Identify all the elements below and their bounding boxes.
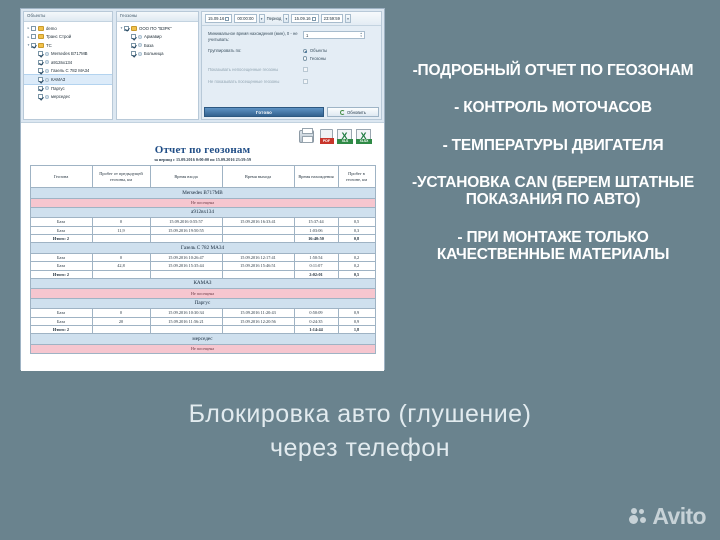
screenshot-root: Объекты ▸demo▸Транс Строй▾ТСMersedes B71… [0, 0, 720, 540]
table-cell: 0,2 [338, 253, 375, 261]
geozone-item-3[interactable]: Больница [117, 50, 198, 59]
table-cell: 0,2 [338, 262, 375, 270]
table-cell: 15:37:44 [294, 218, 338, 226]
report-header-row: ГеозонаПробег от предыдущей геозоны, кмВ… [30, 166, 375, 188]
checkbox-icon[interactable] [38, 86, 43, 91]
checkbox-icon[interactable] [38, 77, 43, 82]
report-table-head: ГеозонаПробег от предыдущей геозоны, кмВ… [30, 166, 375, 188]
checkbox-icon[interactable] [131, 51, 136, 56]
period-label: Период [267, 16, 282, 21]
checkbox-icon[interactable] [124, 26, 129, 31]
calendar-icon[interactable] [225, 17, 229, 21]
print-icon [299, 130, 314, 143]
radio-geozones-label: Геозоны [310, 56, 326, 61]
table-cell-total [222, 234, 294, 242]
folder-icon [38, 26, 44, 31]
table-cell: 1:50:54 [294, 253, 338, 261]
show-unvisited-row: Показывать непосещенные геозоны [208, 67, 375, 73]
report-group-row-cell: Mersedes B717MB [30, 188, 375, 199]
table-cell: 0:50:09 [294, 309, 338, 317]
checkbox-icon[interactable] [131, 43, 136, 48]
report-group-row: КАМАЗ [30, 278, 375, 289]
checkbox-icon[interactable] [38, 60, 43, 65]
table-cell: База [30, 262, 92, 270]
geozone-icon [138, 52, 142, 56]
object-item-label: Паргус [51, 86, 65, 91]
refresh-button-label: Обновить [347, 110, 366, 115]
time-to-field[interactable]: 23:59:59 [321, 14, 343, 23]
geozone-report-table: ГеозонаПробег от предыдущей геозоны, кмВ… [30, 165, 376, 354]
params-body: Минимальное время нахождения (мин), 0 - … [202, 26, 381, 119]
table-row: База015.09.2016 10:26:4715.09.2016 12:17… [30, 253, 375, 261]
object-item-3[interactable]: Mersedes B717MB [24, 50, 112, 59]
report-params-panel: 15.09.16 00:00:00 ▾ Период ▾ 15.09.16 23… [201, 11, 382, 120]
table-row: База11,915.09.2016 19:50:551:03:060,3 [30, 226, 375, 234]
table-cell-total: Итого: 2 [30, 325, 92, 333]
report-not-visited-row: Не посещена [30, 344, 375, 353]
report-group-row: Газель С 782 МА34 [30, 243, 375, 254]
report-column-header: Пробег от предыдущей геозоны, км [92, 166, 150, 188]
geozone-item-1[interactable]: Армавир [117, 32, 198, 41]
checkbox-icon[interactable] [38, 68, 43, 73]
show-unvisited-checkbox[interactable] [303, 67, 308, 72]
object-item-label: Транс Строй [46, 34, 71, 39]
xls-label: XLS [337, 139, 353, 144]
period-toolbar: 15.09.16 00:00:00 ▾ Период ▾ 15.09.16 23… [202, 12, 381, 26]
avito-logo-icon [629, 508, 648, 525]
marketing-bottom-text: Блокировка авто (глушение) через телефон [0, 398, 720, 466]
geozone-icon [138, 43, 142, 47]
geozone-item-label: Армавир [144, 34, 162, 39]
report-total-row: Итого: 22:02:010,5 [30, 270, 375, 278]
report-not-visited-row: Не посещена [30, 289, 375, 298]
table-cell: 15.09.2016 11:56:21 [150, 317, 222, 325]
refresh-icon [340, 110, 345, 115]
checkbox-icon[interactable] [131, 34, 136, 39]
object-item-5[interactable]: Газель С 782 МА34 [24, 67, 112, 76]
xlsx-label: XLSX [356, 139, 372, 144]
bottom-line-2: через телефон [0, 432, 720, 466]
date-from-value: 15.09.16 [208, 16, 224, 21]
group-by-row: Группировать по: Объекты Геозоны [208, 48, 375, 61]
report-group-row-cell: Газель С 782 МА34 [30, 243, 375, 254]
objects-tree[interactable]: ▸demo▸Транс Строй▾ТСMersedes B717MBа912в… [24, 22, 112, 119]
table-cell-total [150, 270, 222, 278]
table-cell-total: 1:14:44 [294, 325, 338, 333]
report-area: XXLS XXLSX Отчет по геозонам за период с… [21, 122, 384, 371]
object-item-8[interactable]: мерседес [24, 92, 112, 101]
table-cell-total: Итого: 2 [30, 234, 92, 242]
report-group-row-cell: а912вх134 [30, 207, 375, 218]
time-from-field[interactable]: 00:00:00 [234, 14, 256, 23]
table-cell: 0 [92, 253, 150, 261]
table-cell: 15.09.2016 15:46:51 [222, 262, 294, 270]
report-group-row-cell: мерседес [30, 334, 375, 345]
table-cell: 15.09.2016 12:17:41 [222, 253, 294, 261]
folder-icon [131, 26, 137, 31]
object-item-label: КАМАЗ [51, 77, 65, 82]
report-column-header: Время нахождения [294, 166, 338, 188]
table-cell: 15.09.2016 15:35:44 [150, 262, 222, 270]
object-item-6[interactable]: КАМАЗ [24, 75, 112, 84]
table-cell-total [222, 325, 294, 333]
min-time-label: Минимальное время нахождения (мин), 0 - … [208, 31, 303, 42]
report-not-visited-row: Не посещена [30, 198, 375, 207]
radio-objects-label: Объекты [310, 48, 327, 53]
table-row: База015.09.2016 10:30:3415.09.2016 11:20… [30, 309, 375, 317]
folder-icon [38, 43, 44, 48]
spinner-icon[interactable]: ▴▾ [360, 32, 364, 38]
table-cell: 0 [92, 309, 150, 317]
table-cell: База [30, 253, 92, 261]
table-cell: 0,9 [338, 317, 375, 325]
table-cell: 15.09.2016 10:26:47 [150, 253, 222, 261]
avito-wordmark: Avito [652, 503, 706, 530]
marketing-item-4: - При монтаже только качественные матери… [392, 229, 714, 264]
table-cell: 0:11:07 [294, 262, 338, 270]
folder-icon [38, 34, 44, 39]
report-total-row: Итого: 21:14:441,8 [30, 325, 375, 333]
objects-panel: Объекты ▸demo▸Транс Строй▾ТСMersedes B71… [23, 11, 113, 120]
table-cell-total: Итого: 2 [30, 270, 92, 278]
pdf-icon [320, 129, 333, 144]
geozones-tree[interactable]: ▾ООО ПО "ВЗРК"АрмавирБазаБольница [117, 22, 198, 119]
radio-geozones-icon[interactable] [303, 56, 307, 60]
report-column-header: Пробег в геозоне, км [338, 166, 375, 188]
object-item-label: Газель С 782 МА34 [51, 68, 89, 73]
xls-export-button[interactable]: XXLS [337, 128, 353, 144]
table-cell: 15.09.2016 11:20:43 [222, 309, 294, 317]
report-group-row-cell: Паргус [30, 298, 375, 309]
avito-watermark: Avito [629, 503, 706, 530]
table-cell-total [150, 234, 222, 242]
report-group-row: а912вх134 [30, 207, 375, 218]
object-item-label: мерседес [51, 94, 70, 99]
object-item-0[interactable]: ▸demo [24, 24, 112, 33]
report-column-header: Время входа [150, 166, 222, 188]
marketing-item-2: - Температуры двигателя [392, 137, 714, 154]
table-cell-total: 16:40:50 [294, 234, 338, 242]
geozone-item-0[interactable]: ▾ООО ПО "ВЗРК" [117, 24, 198, 33]
xls-icon: XXLS [337, 129, 352, 144]
object-item-7[interactable]: Паргус [24, 84, 112, 93]
object-item-label: Mersedes B717MB [51, 51, 88, 56]
vehicle-icon [45, 86, 49, 90]
table-cell: 11,9 [92, 226, 150, 234]
object-item-2[interactable]: ▾ТС [24, 41, 112, 50]
report-not-visited-row-cell: Не посещена [30, 289, 375, 298]
refresh-button[interactable]: Обновить [327, 107, 379, 117]
checkbox-icon[interactable] [38, 51, 43, 56]
geozone-item-label: Больница [144, 51, 164, 56]
min-time-input[interactable]: 1 ▴▾ [303, 31, 365, 39]
report-group-row: мерседес [30, 334, 375, 345]
geozone-item-label: База [144, 43, 154, 48]
checkbox-icon[interactable] [31, 34, 36, 39]
vehicle-icon [45, 78, 49, 82]
table-cell: 0:24:35 [294, 317, 338, 325]
vehicle-icon [45, 60, 49, 64]
table-row: База42,815.09.2016 15:35:4415.09.2016 15… [30, 262, 375, 270]
report-column-header: Геозона [30, 166, 92, 188]
table-cell-total: 2:02:01 [294, 270, 338, 278]
marketing-item-1: - Контроль моточасов [392, 99, 714, 116]
table-cell: 15.09.2016 0:55:57 [150, 218, 222, 226]
report-title: Отчет по геозонам [25, 144, 380, 156]
table-cell: База [30, 226, 92, 234]
report-group-row: Паргус [30, 298, 375, 309]
calendar-icon-2[interactable] [312, 17, 316, 21]
table-cell-total [92, 325, 150, 333]
table-cell: 20 [92, 317, 150, 325]
table-cell-total [222, 270, 294, 278]
report-column-header: Время выхода [222, 166, 294, 188]
time-to-value: 23:59:59 [324, 16, 340, 21]
report-group-row-cell: КАМАЗ [30, 278, 375, 289]
group-by-label: Группировать по: [208, 48, 303, 54]
marketing-item-3: -Установка CAN (берем штатные показания … [392, 174, 714, 209]
checkbox-icon[interactable] [31, 43, 36, 48]
vehicle-icon [45, 95, 49, 99]
xlsx-export-button[interactable]: XXLSX [356, 128, 372, 144]
radio-group-objects[interactable]: Объекты [303, 48, 375, 53]
report-subtitle: за период с 15.09.2016 0:00:00 по 15.09.… [25, 157, 380, 162]
export-toolbar: XXLS XXLSX [25, 126, 380, 146]
time-from-value: 00:00:00 [237, 16, 253, 21]
table-cell: 15.09.2016 10:30:34 [150, 309, 222, 317]
radio-objects-icon[interactable] [303, 49, 307, 53]
min-time-value: 1 [306, 33, 308, 38]
time-to-stepper[interactable]: ▾ [345, 14, 351, 23]
report-group-row: Mersedes B717MB [30, 188, 375, 199]
vehicle-icon [45, 52, 49, 56]
table-cell: 15.09.2016 12:20:56 [222, 317, 294, 325]
table-cell-total [92, 234, 150, 242]
object-item-label: demo [46, 26, 57, 31]
table-cell-total [150, 325, 222, 333]
top-panels-row: Объекты ▸demo▸Транс Строй▾ТСMersedes B71… [21, 9, 384, 122]
table-cell-total [92, 270, 150, 278]
table-cell: 0,9 [338, 309, 375, 317]
table-row: База015.09.2016 0:55:5715.09.2016 16:33:… [30, 218, 375, 226]
time-from-stepper[interactable]: ▾ [259, 14, 265, 23]
pdf-export-button[interactable] [318, 128, 334, 144]
table-cell-total: 0,8 [338, 234, 375, 242]
table-row: База2015.09.2016 11:56:2115.09.2016 12:2… [30, 317, 375, 325]
object-item-label: а912вх134 [51, 60, 72, 65]
table-cell: База [30, 309, 92, 317]
radio-group-geozones[interactable]: Геозоны [303, 56, 375, 61]
geozones-panel-header: Геозоны [117, 12, 198, 22]
date-to-value: 15.09.16 [294, 16, 310, 21]
table-cell: База [30, 218, 92, 226]
object-item-1[interactable]: ▸Транс Строй [24, 32, 112, 41]
table-cell: 0,3 [338, 226, 375, 234]
geozone-item-label: ООО ПО "ВЗРК" [139, 26, 172, 31]
show-unvisited-label: Показывать непосещенные геозоны [208, 67, 303, 73]
object-item-label: ТС [46, 43, 52, 48]
geozones-panel: Геозоны ▾ООО ПО "ВЗРК"АрмавирБазаБольниц… [116, 11, 199, 120]
report-total-row: Итого: 216:40:500,8 [30, 234, 375, 242]
params-button-row: Готово Обновить [204, 107, 379, 117]
geozone-icon [138, 35, 142, 39]
object-item-4[interactable]: а912вх134 [24, 58, 112, 67]
period-dropdown-icon[interactable]: ▾ [283, 14, 289, 23]
table-cell [222, 226, 294, 234]
marketing-item-0: -Подробный отчет по геозонам [392, 62, 714, 79]
report-not-visited-row-cell: Не посещена [30, 344, 375, 353]
table-cell: 1:03:06 [294, 226, 338, 234]
xlsx-icon: XXLSX [356, 129, 371, 144]
report-not-visited-row-cell: Не посещена [30, 198, 375, 207]
print-button[interactable] [299, 128, 315, 144]
table-cell-total: 0,5 [338, 270, 375, 278]
hide-visited-label: Не показывать посещенные геозоны [208, 79, 303, 85]
date-to-field[interactable]: 15.09.16 [291, 14, 318, 23]
objects-panel-header: Объекты [24, 12, 112, 22]
geozone-item-2[interactable]: База [117, 41, 198, 50]
table-cell: 0 [92, 218, 150, 226]
table-cell: 15.09.2016 19:50:55 [150, 226, 222, 234]
done-button[interactable]: Готово [204, 107, 324, 117]
table-cell: 42,8 [92, 262, 150, 270]
checkbox-icon[interactable] [38, 94, 43, 99]
min-time-row: Минимальное время нахождения (мин), 0 - … [208, 31, 375, 42]
hide-visited-checkbox[interactable] [303, 79, 308, 84]
bottom-line-1: Блокировка авто (глушение) [0, 398, 720, 432]
hide-visited-row: Не показывать посещенные геозоны [208, 79, 375, 85]
report-table-body: Mersedes B717MBНе посещенаа912вх134База0… [30, 188, 375, 354]
vehicle-icon [45, 69, 49, 73]
table-cell: 15.09.2016 16:33:41 [222, 218, 294, 226]
date-from-field[interactable]: 15.09.16 [205, 14, 232, 23]
marketing-feature-list: -Подробный отчет по геозонам- Контроль м… [392, 62, 714, 284]
table-cell: База [30, 317, 92, 325]
table-cell-total: 1,8 [338, 325, 375, 333]
tracking-app-window: Объекты ▸demo▸Транс Строй▾ТСMersedes B71… [20, 8, 385, 370]
table-cell: 0,5 [338, 218, 375, 226]
checkbox-icon[interactable] [31, 26, 36, 31]
